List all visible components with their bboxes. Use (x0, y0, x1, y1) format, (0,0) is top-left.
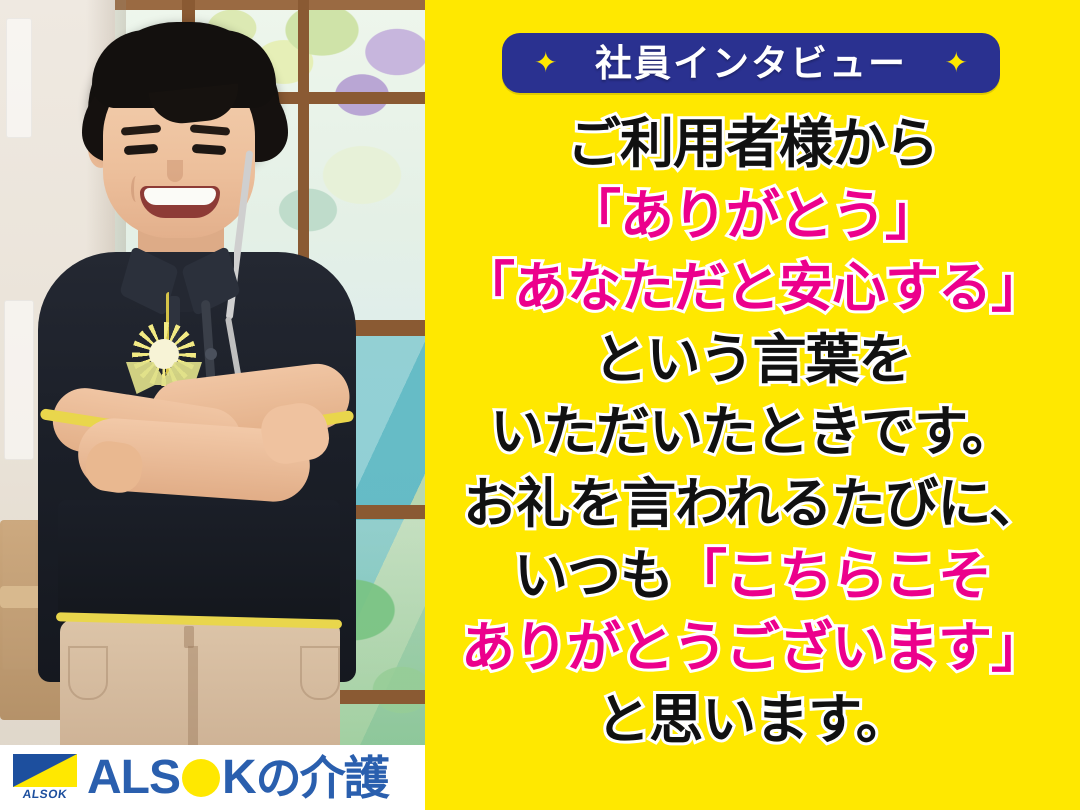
interview-badge: ✦ 社員インタビュー ✦ (502, 33, 1000, 93)
badge-title: 社員インタビュー (595, 45, 907, 82)
shirt-lower (58, 500, 340, 624)
quote-line-7-pink: 「こちらこそ (673, 544, 991, 607)
quote-line-7-black: いつも (514, 544, 673, 607)
brand-latin-suffix: K (222, 754, 256, 802)
promo-banner: ALSOK ALS K の介護 ✦ 社員インタビュー ✦ ご利用者様から 「あり… (0, 0, 1080, 810)
nose (167, 160, 183, 182)
pants-pocket (68, 646, 108, 700)
pants-pocket (300, 646, 340, 700)
smiling-mouth (140, 186, 220, 218)
smile-line (131, 176, 141, 202)
sparkle-left-icon: ✦ (534, 49, 557, 77)
quote-line-2: 「ありがとう」 (425, 180, 1080, 252)
quote-line-6: お礼を言われるたびに、 (425, 468, 1080, 540)
staff-photo: ALSOK ALS K の介護 (0, 0, 425, 810)
quote-text-block: ご利用者様から 「ありがとう」 「あなただと安心する」 という言葉を いただいた… (425, 108, 1080, 756)
alsok-logo-mark: ALSOK (13, 754, 77, 802)
belt-loop (184, 626, 194, 648)
brand-logo-band: ALSOK ALS K の介護 (0, 745, 425, 810)
quote-line-7: いつも「こちらこそ (425, 540, 1080, 612)
alsok-brand-text: ALS K の介護 (87, 754, 388, 802)
quote-line-3: 「あなただと安心する」 (425, 252, 1080, 324)
brand-latin-prefix: ALS (87, 754, 180, 802)
alsok-diagonal-square-icon (13, 754, 77, 787)
alsok-mark-wordmark: ALSOK (14, 787, 76, 801)
quote-line-1: ご利用者様から (425, 108, 1080, 180)
brand-japanese-suffix: の介護 (256, 755, 388, 801)
person-figure (0, 0, 425, 760)
hair-fringe (92, 30, 276, 108)
brand-o-circle-icon (182, 759, 220, 797)
sparkle-right-icon: ✦ (945, 49, 968, 77)
lanyard-button (205, 348, 217, 360)
quote-panel: ✦ 社員インタビュー ✦ ご利用者様から 「ありがとう」 「あなただと安心する」… (425, 0, 1080, 810)
quote-line-9: と思います。 (425, 684, 1080, 756)
quote-line-8: ありがとうございます」 (425, 612, 1080, 684)
quote-line-5: いただいたときです。 (425, 396, 1080, 468)
quote-line-4: という言葉を (425, 324, 1080, 396)
teeth (144, 188, 216, 205)
